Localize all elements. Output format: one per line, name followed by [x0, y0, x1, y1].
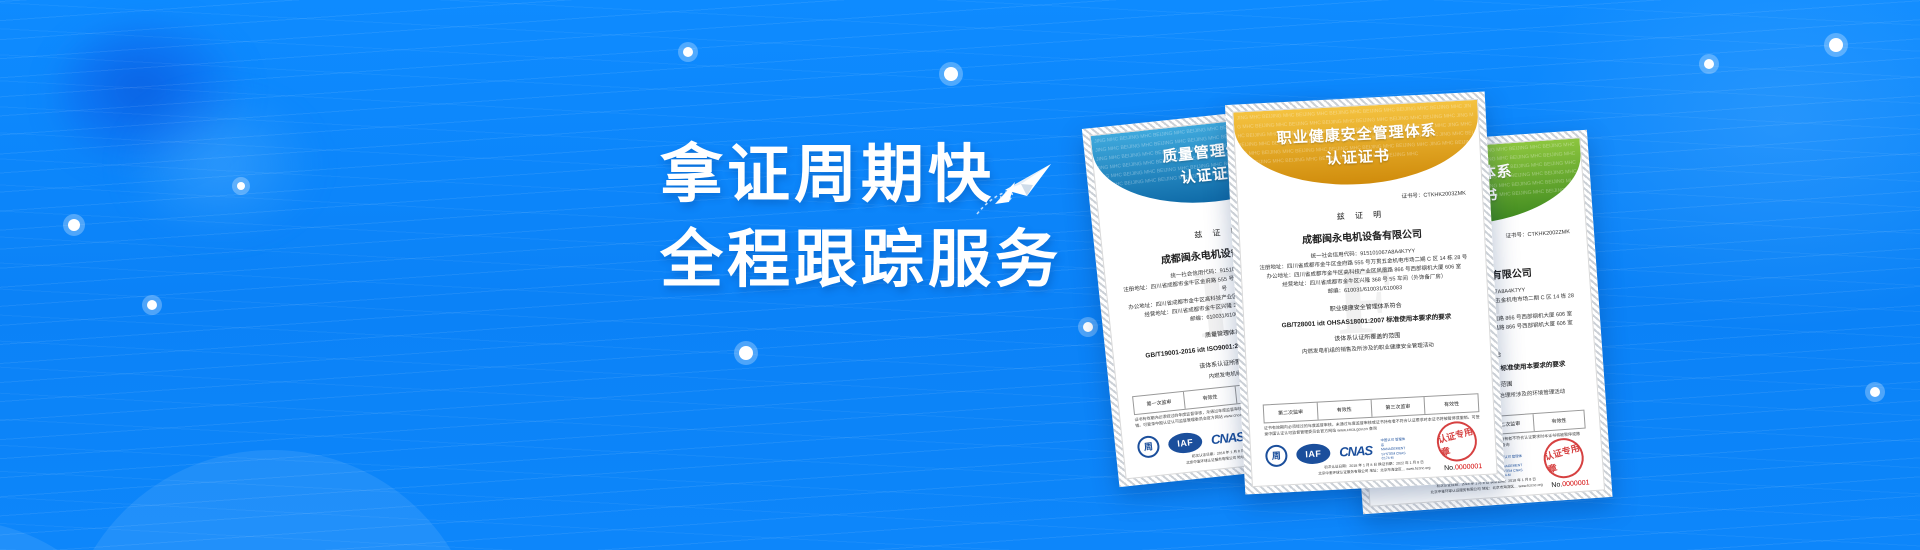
certificate-audit-cell: 有效性 [1317, 400, 1372, 420]
cnas-logo-icon: CNAS [1339, 443, 1373, 460]
certificate-stack: JING MHC BEIJING MHC BEIJING MHC BEIJING… [1100, 60, 1920, 500]
decorative-dot-1 [683, 47, 693, 57]
decorative-dot-3 [237, 182, 245, 190]
paper-plane-icon [975, 152, 1053, 216]
certificate-serial: No.0000001 [1551, 479, 1590, 489]
certificate-audit-cell: 第三次监审 [1371, 397, 1426, 417]
iaf-logo-icon: IAF [1167, 431, 1203, 454]
background-circle-large [62, 450, 482, 550]
decorative-dot-9 [1829, 38, 1843, 52]
certificate-audit-cell: 有效性 [1533, 411, 1584, 431]
iaf-logo-icon: IAF [1296, 443, 1331, 465]
cnca-logo-icon: 周 [1265, 444, 1288, 467]
certificate-card[interactable]: JING MHC BEIJING MHC BEIJING MHC BEIJING… [1225, 91, 1505, 494]
certificate-number: 证书号：CTKHK2003ZMK [1401, 189, 1466, 200]
certificate-header-watermark: JING MHC BEIJING MHC BEIJING MHC BEIJING… [1233, 100, 1481, 191]
decorative-dot-4 [68, 219, 80, 231]
decorative-dot-5 [147, 300, 157, 310]
promo-banner: 拿证周期快 全程跟踪服务 JING MHC BEIJING MHC BEIJIN… [0, 0, 1920, 550]
cnca-logo-icon: 周 [1136, 434, 1160, 458]
decorative-dot-6 [739, 346, 753, 360]
certificate-audit-cell: 有效性 [1425, 394, 1479, 414]
certificate-header: JING MHC BEIJING MHC BEIJING MHC BEIJING… [1233, 100, 1481, 191]
certificate-audit-cell: 第一次监审 [1133, 392, 1186, 414]
cnas-logo-icon: CNAS [1210, 429, 1244, 447]
cnas-logo-text: 中国认可 管理体系 MANAGEMENT SYSTEM CNAS C174-M [1380, 437, 1407, 461]
certificate-inner: JING MHC BEIJING MHC BEIJING MHC BEIJING… [1232, 99, 1497, 487]
certificate-company-name: 成都闽永电机设备有限公司 [1254, 222, 1470, 248]
certificate-body: 兹 证 明成都闽永电机设备有限公司统一社会信用代码：915101067A8A4K… [1253, 204, 1476, 359]
certificate-number: 证书号：CTKHK2002ZMK [1505, 227, 1570, 239]
headline-line-2: 全程跟踪服务 [660, 217, 1062, 302]
decorative-dot-2 [944, 67, 958, 81]
certificate-serial: No.0000001 [1444, 463, 1482, 472]
background-glow-light [120, 90, 320, 240]
decorative-dot-7 [1083, 322, 1093, 332]
certificate-audit-cell: 有效性 [1184, 386, 1237, 408]
certificate-audit-cell: 第二次监审 [1264, 403, 1319, 423]
